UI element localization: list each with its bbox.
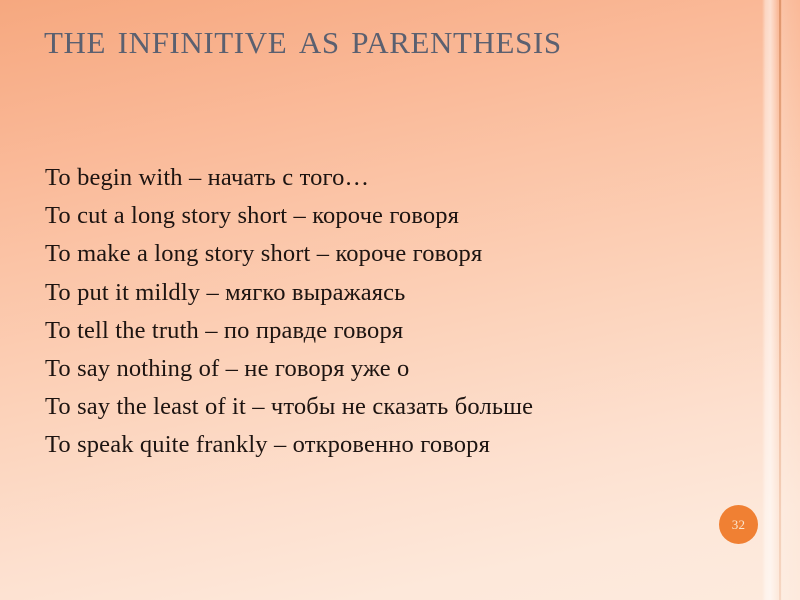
list-item: To say the least of it – чтобы не сказат… xyxy=(45,388,725,426)
list-item: To make a long story short – короче гово… xyxy=(45,235,725,273)
slide-title: The Infinitive as Parenthesis xyxy=(44,14,684,63)
decorative-stripe-wide xyxy=(762,0,778,600)
decorative-stripe-line xyxy=(779,0,781,600)
list-item: To say nothing of – не говоря уже о xyxy=(45,350,725,388)
list-item: To put it mildly – мягко выражаясь xyxy=(45,274,725,312)
phrase-list: To begin with – начать с того… To cut a … xyxy=(45,159,725,465)
decorative-stripe-edge xyxy=(782,0,800,600)
list-item: To begin with – начать с того… xyxy=(45,159,725,197)
slide-canvas: The Infinitive as Parenthesis To begin w… xyxy=(0,0,800,600)
page-number-label: 32 xyxy=(732,518,746,531)
list-item: To speak quite frankly – откровенно гово… xyxy=(45,426,725,464)
list-item: To cut a long story short – короче говор… xyxy=(45,197,725,235)
list-item: To tell the truth – по правде говоря xyxy=(45,312,725,350)
page-number-badge: 32 xyxy=(719,505,758,544)
